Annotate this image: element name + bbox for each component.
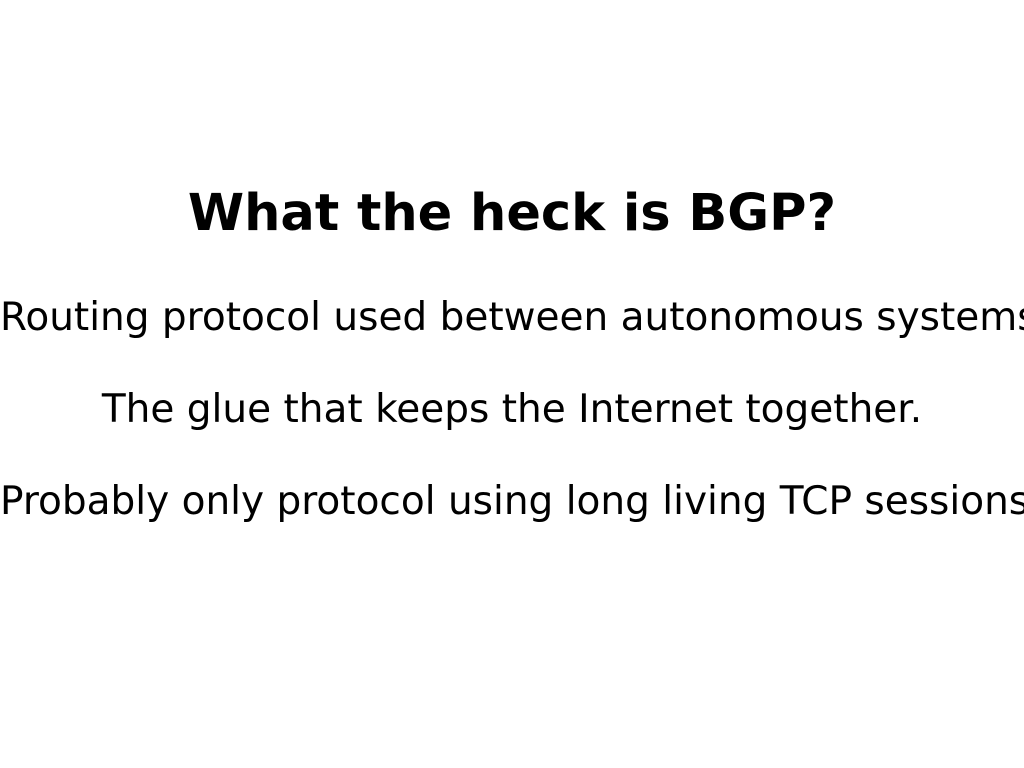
body-line-1: Routing protocol used between autonomous… bbox=[0, 272, 1024, 364]
presentation-slide: What the heck is BGP? Routing protocol u… bbox=[0, 0, 1024, 768]
slide-body: Routing protocol used between autonomous… bbox=[0, 272, 1024, 548]
body-line-2: The glue that keeps the Internet togethe… bbox=[0, 364, 1024, 456]
page-title: What the heck is BGP? bbox=[0, 188, 1024, 239]
body-line-3: Probably only protocol using long living… bbox=[0, 456, 1024, 548]
